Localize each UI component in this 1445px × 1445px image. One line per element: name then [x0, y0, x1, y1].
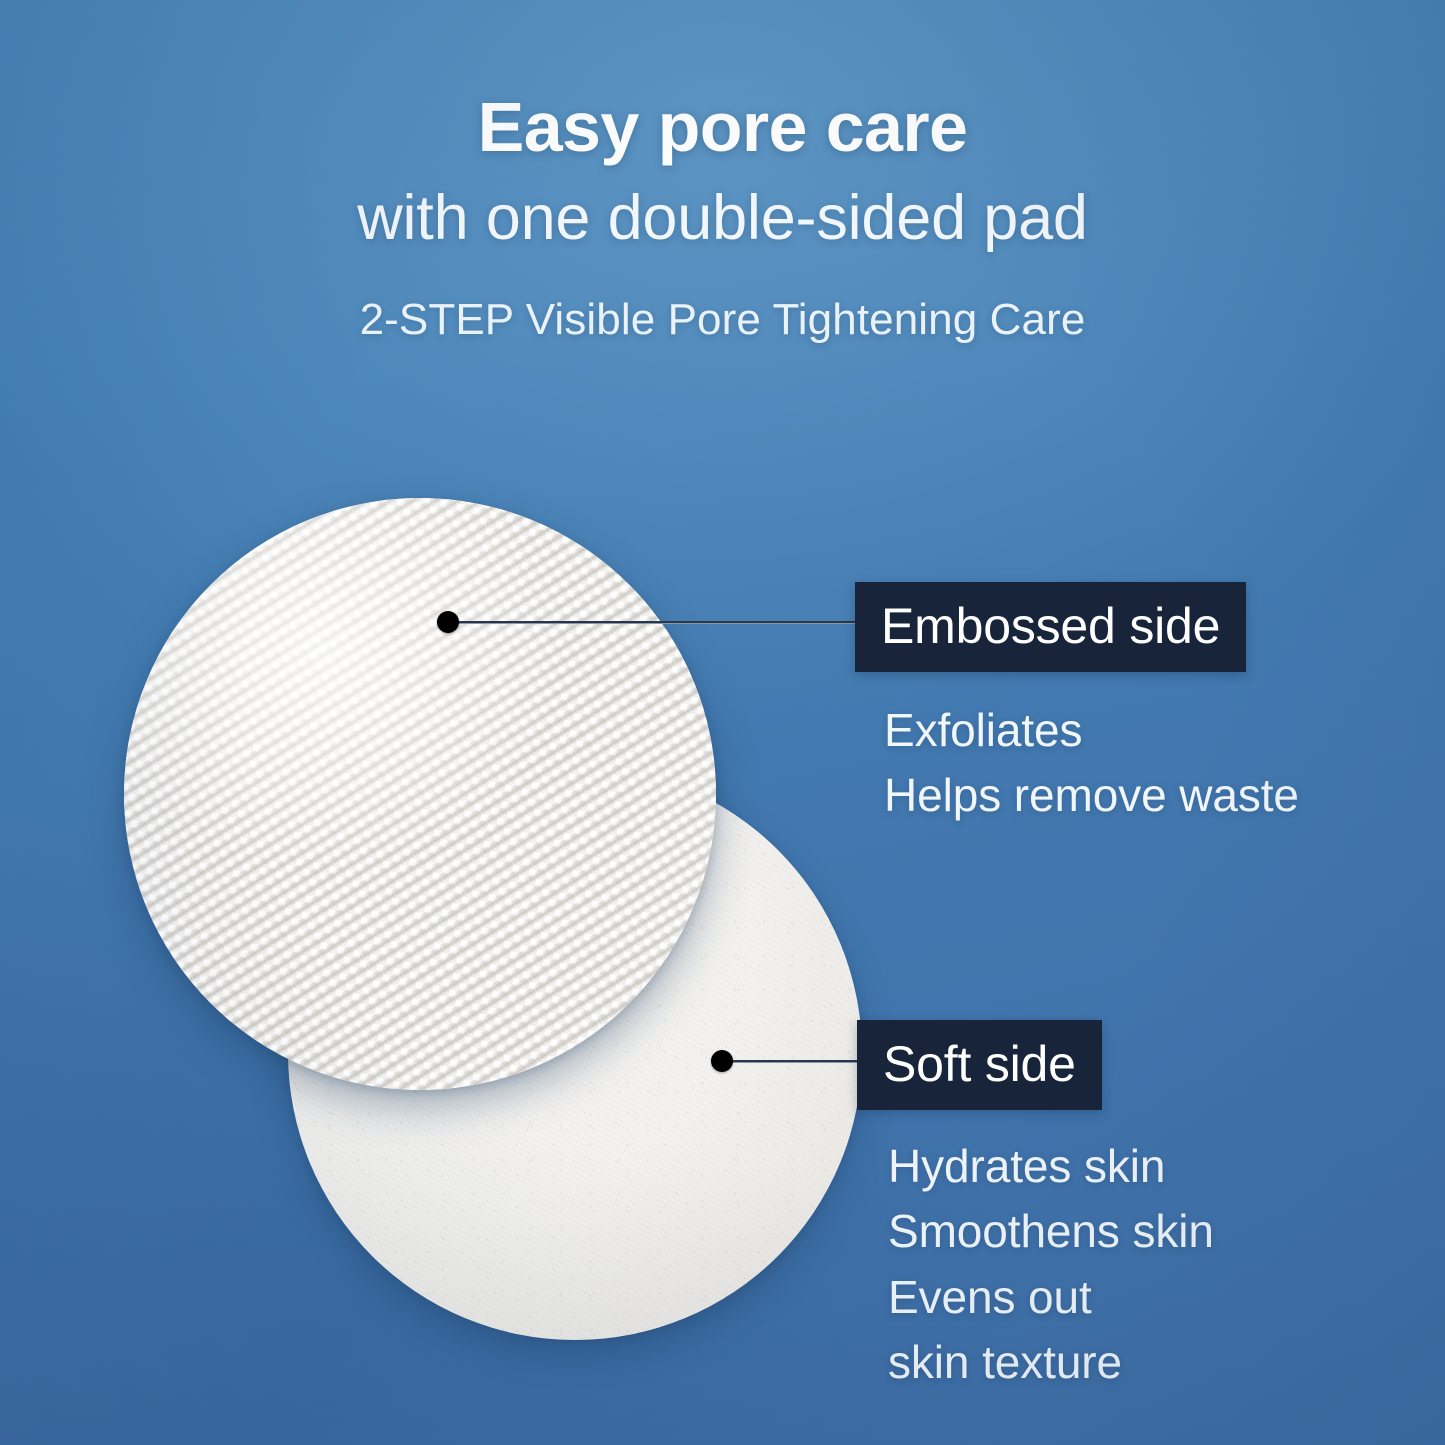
benefit-item: Hydrates skin — [888, 1134, 1214, 1199]
headline-secondary: with one double-sided pad — [0, 163, 1445, 251]
embossed-pad-sheen — [124, 498, 716, 1090]
leader-dot-icon-embossed — [437, 611, 459, 633]
benefit-item: Smoothens skin — [888, 1199, 1214, 1264]
benefit-list-embossed: Exfoliates Helps remove waste — [884, 698, 1299, 829]
callout-embossed-side: Embossed side Exfoliates Helps remove wa… — [855, 582, 1299, 829]
headline-tagline: 2-STEP Visible Pore Tightening Care — [0, 252, 1445, 343]
leader-dot-icon-soft — [711, 1050, 733, 1072]
leader-line-icon-soft — [722, 1060, 864, 1063]
chip-label-embossed: Embossed side — [855, 582, 1246, 672]
leader-line-icon-embossed — [448, 621, 863, 624]
callout-soft-side: Soft side Hydrates skin Smoothens skin E… — [857, 1020, 1214, 1395]
cotton-pad-embossed — [124, 498, 716, 1090]
benefit-item: Exfoliates — [884, 698, 1299, 763]
product-infographic: Easy pore care with one double-sided pad… — [0, 0, 1445, 1445]
benefit-list-soft: Hydrates skin Smoothens skin Evens out s… — [888, 1134, 1214, 1395]
header-block: Easy pore care with one double-sided pad… — [0, 0, 1445, 343]
benefit-item: skin texture — [888, 1330, 1214, 1395]
chip-label-soft: Soft side — [857, 1020, 1102, 1110]
benefit-item: Evens out — [888, 1265, 1214, 1330]
benefit-item: Helps remove waste — [884, 763, 1299, 828]
headline-primary: Easy pore care — [0, 0, 1445, 163]
